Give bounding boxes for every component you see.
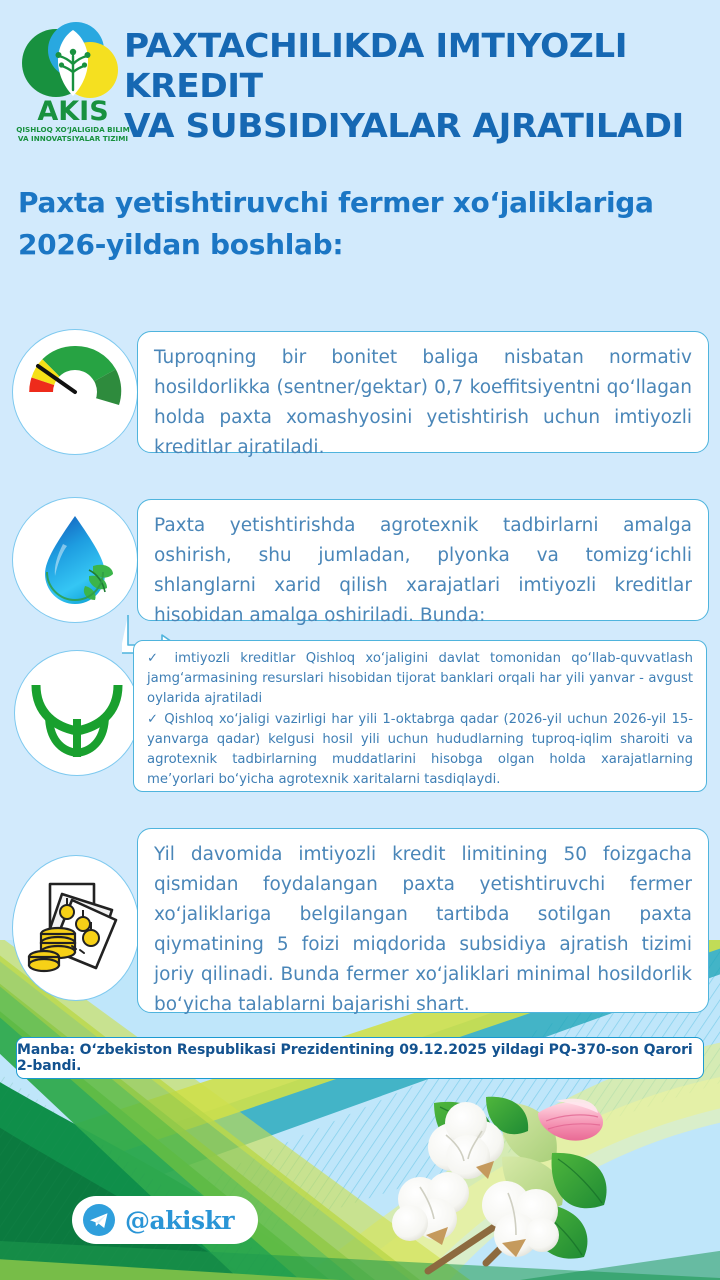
- akis-logo: AKIS QISHLOQ XO‘JALIGIDA BILIM VA INNOVA…: [14, 18, 132, 148]
- water-drop-icon: [19, 504, 131, 616]
- content-bubble-3: ✓ imtiyozli kreditlar Qishloq xo‘jaligin…: [133, 640, 707, 792]
- telegram-handle: @akiskr: [125, 1206, 234, 1235]
- telegram-badge[interactable]: @akiskr: [72, 1196, 258, 1244]
- source-text: Manba: O‘zbekiston Respublikasi Preziden…: [17, 1042, 703, 1074]
- sprout-icon-circle: [14, 650, 140, 776]
- cotton-illustration: [390, 1095, 720, 1280]
- bullet-item-2: ✓ Qishloq xo‘jaligi vazirligi har yili 1…: [147, 710, 693, 790]
- telegram-icon[interactable]: [82, 1203, 116, 1237]
- bullet-item-1-text: imtiyozli kreditlar Qishloq xo‘jaligini …: [147, 651, 693, 706]
- logo-tagline-line1: QISHLOQ XO‘JALIGIDA BILIM: [16, 125, 129, 134]
- logo-wordmark: AKIS: [37, 96, 108, 127]
- gauge-icon-circle: [12, 329, 138, 455]
- gauge-icon: [16, 333, 134, 451]
- page-title-line1: PAXTACHILIKDA IMTIYOZLI KREDIT: [124, 26, 720, 106]
- bullet-item-2-text: Qishloq xo‘jaligi vazirligi har yili 1-o…: [147, 712, 693, 787]
- page-subtitle: Paxta yetishtiruvchi fermer xo‘jaliklari…: [18, 182, 708, 266]
- check-icon: ✓: [147, 651, 164, 666]
- water-drop-icon-circle: [12, 497, 138, 623]
- sprout-icon: [23, 659, 131, 767]
- page-subtitle-line1: Paxta yetishtiruvchi fermer xo‘jaliklari…: [18, 182, 708, 224]
- money-icon-circle: [12, 855, 140, 1001]
- cotton-boll: [392, 1172, 469, 1241]
- content-bubble-4: Yil davomida imtiyozli kredit limitining…: [137, 828, 709, 1013]
- source-bar: Manba: O‘zbekiston Respublikasi Preziden…: [16, 1037, 704, 1079]
- logo-tagline-line2: VA INNOVATSIYALAR TIZIMI: [18, 134, 128, 143]
- page-header: AKIS QISHLOQ XO‘JALIGIDA BILIM VA INNOVA…: [0, 0, 720, 165]
- money-icon: [20, 872, 132, 984]
- bullet-item-1: ✓ imtiyozli kreditlar Qishloq xo‘jaligin…: [147, 649, 693, 709]
- content-bubble-2: Paxta yetishtirishda agrotexnik tadbirla…: [137, 499, 709, 621]
- infographic-page: AKIS QISHLOQ XO‘JALIGIDA BILIM VA INNOVA…: [0, 0, 720, 1280]
- content-bubble-1: Tuproqning bir bonitet baliga nisbatan n…: [137, 331, 709, 453]
- page-title: PAXTACHILIKDA IMTIYOZLI KREDIT VA SUBSID…: [124, 26, 720, 146]
- page-title-line2: VA SUBSIDIYALAR AJRATILADI: [124, 106, 720, 146]
- page-subtitle-line2: 2026-yildan boshlab:: [18, 224, 708, 266]
- check-icon: ✓: [147, 712, 159, 727]
